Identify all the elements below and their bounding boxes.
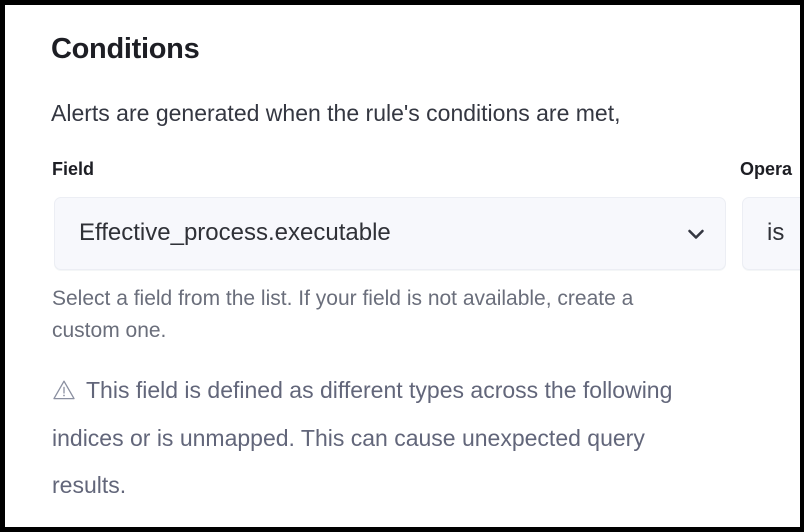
field-select-value: Effective_process.executable [79, 220, 675, 246]
field-warning-message: This field is defined as different types… [52, 367, 712, 510]
screenshot-frame: Conditions Alerts are generated when the… [0, 0, 804, 532]
page-title: Conditions [51, 32, 199, 66]
field-select[interactable]: Effective_process.executable [54, 197, 726, 270]
operator-label: Opera [740, 157, 792, 182]
conditions-panel: Conditions Alerts are generated when the… [5, 5, 800, 527]
chevron-down-icon [683, 221, 709, 247]
operator-select[interactable]: is [742, 197, 800, 270]
operator-select-value: is [767, 220, 800, 246]
panel-description: Alerts are generated when the rule's con… [51, 99, 621, 129]
conditions-panel-content: Conditions Alerts are generated when the… [5, 5, 800, 527]
field-label: Field [52, 157, 94, 182]
warning-triangle-icon [52, 378, 76, 402]
field-helper-text: Select a field from the list. If your fi… [52, 283, 692, 347]
field-warning-text: This field is defined as different types… [52, 377, 672, 498]
